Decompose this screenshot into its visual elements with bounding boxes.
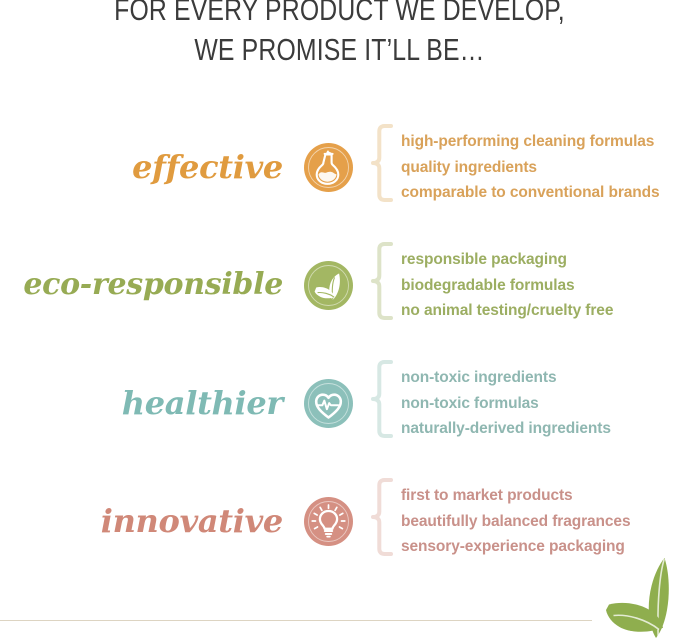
curly-brace-icon	[371, 124, 393, 210]
promise-row: effective high-performing cleaning formu…	[0, 108, 679, 226]
bullet-item: naturally-derived ingredients	[401, 416, 611, 442]
footer-divider	[0, 620, 592, 621]
promise-row: innovative	[0, 462, 679, 580]
promise-label-eco-responsible: eco-responsible	[23, 267, 283, 303]
bullet-item: first to market products	[401, 483, 630, 509]
bullet-item: non-toxic formulas	[401, 390, 611, 416]
promise-label-innovative: innovative	[101, 503, 283, 539]
bullet-item: comparable to conventional brands	[401, 180, 660, 206]
promise-label-effective: effective	[132, 149, 283, 185]
bullet-item: high-performing cleaning formulas	[401, 129, 660, 155]
page-title-line-1: FOR EVERY PRODUCT WE DEVELOP,	[68, 0, 611, 30]
two-leaves-logo	[596, 556, 679, 638]
bullet-item: biodegradable formulas	[401, 272, 613, 298]
bullet-item: responsible packaging	[401, 247, 613, 273]
promise-bullets: responsible packaging biodegradable form…	[401, 247, 613, 324]
curly-brace-icon	[371, 360, 393, 446]
bullet-item: quality ingredients	[401, 154, 660, 180]
lightbulb-icon	[304, 497, 353, 546]
promise-bullets: high-performing cleaning formulas qualit…	[401, 129, 660, 206]
curly-brace-icon	[371, 242, 393, 328]
bullet-item: no animal testing/cruelty free	[401, 298, 613, 324]
curly-brace-icon	[371, 478, 393, 564]
flask-icon	[304, 143, 353, 192]
leaf-icon	[304, 261, 353, 310]
page-title-line-2: WE PROMISE IT’LL BE…	[68, 30, 611, 70]
heart-pulse-icon	[304, 379, 353, 428]
promise-row: healthier non-toxic ingredients non-toxi…	[0, 344, 679, 462]
promise-bullets: first to market products beautifully bal…	[401, 483, 630, 560]
promise-list: effective high-performing cleaning formu…	[0, 108, 679, 580]
promise-bullets: non-toxic ingredients non-toxic formulas…	[401, 365, 611, 442]
promise-label-healthier: healthier	[122, 385, 283, 421]
bullet-item: non-toxic ingredients	[401, 365, 611, 391]
page-title: FOR EVERY PRODUCT WE DEVELOP, WE PROMISE…	[68, 0, 611, 70]
promise-row: eco-responsible responsible packaging bi…	[0, 226, 679, 344]
bullet-item: beautifully balanced fragrances	[401, 508, 630, 534]
